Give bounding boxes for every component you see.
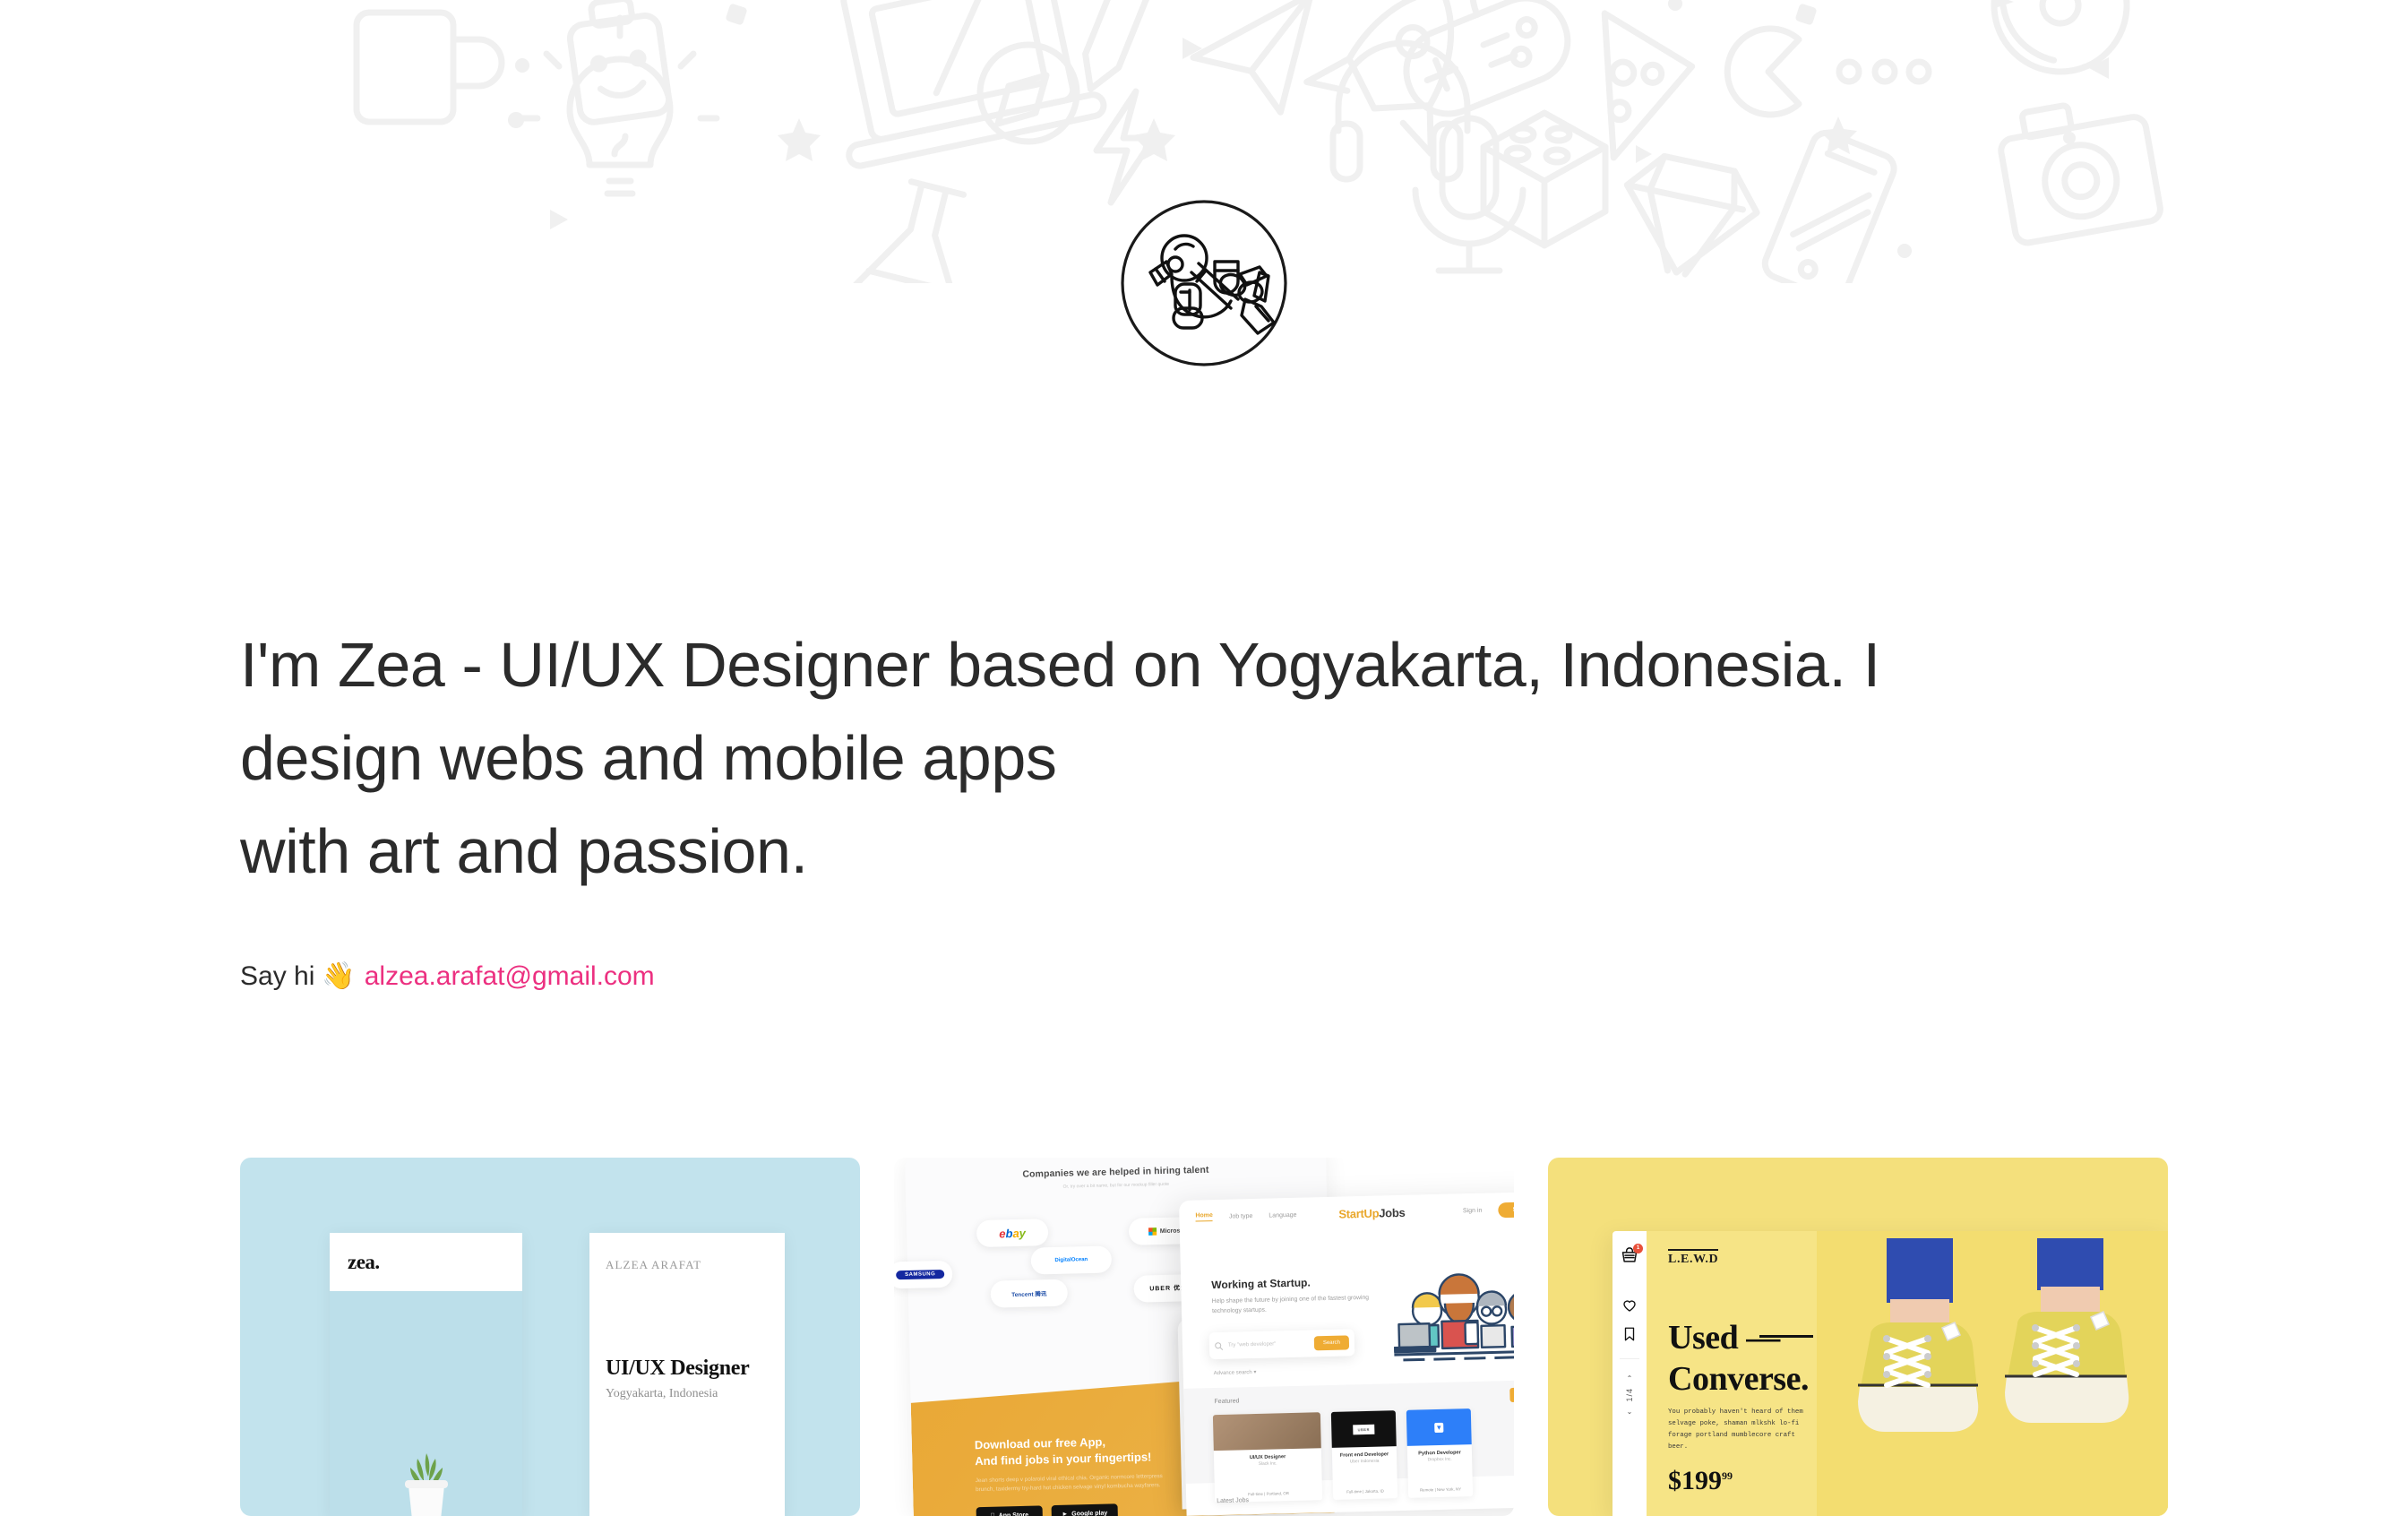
waving-hand-icon: 👋 — [322, 959, 355, 995]
business-card-role: UI/UX Designer — [606, 1357, 749, 1381]
pager-down-icon[interactable]: ⌄ — [1627, 1408, 1633, 1416]
diamond-icon — [1612, 150, 1765, 283]
product-description: You probably haven't heard of them selva… — [1668, 1407, 1811, 1453]
lego-brick-icon — [1483, 113, 1605, 245]
project-card-branding[interactable]: zea. ALZEA ARAFAT UI/UX Design — [240, 1158, 860, 1516]
job-card-title: Python Developer — [1407, 1450, 1472, 1457]
site-hero-title: Working at Startup. — [1211, 1276, 1311, 1291]
product-title: Used — Converse. — [1668, 1317, 1809, 1400]
business-card-front-top: zea. — [330, 1233, 522, 1291]
shop-sidebar-rail: 1 ⌃ 1/4 ⌄ — [1612, 1231, 1647, 1516]
smartphone-icon — [1760, 128, 1897, 283]
email-link[interactable]: alzea.arafat@gmail.com — [365, 959, 655, 995]
bookmark-icon[interactable] — [1622, 1326, 1637, 1347]
sign-in-link[interactable]: Sign in — [1463, 1207, 1483, 1214]
project-cards: zea. ALZEA ARAFAT UI/UX Design — [240, 1158, 2168, 1516]
heart-icon[interactable] — [1621, 1297, 1638, 1318]
app-store-button[interactable]:  App Store — [976, 1505, 1043, 1516]
nav-home[interactable]: Home — [1195, 1212, 1213, 1221]
google-play-button[interactable]: ► Google play — [1052, 1503, 1118, 1516]
site-brand: StartUpJobs — [1338, 1205, 1405, 1220]
page-title: I'm Zea - UI/UX Designer based on Yogyak… — [240, 618, 2121, 898]
job-card[interactable]: UI/UX Designer Slack Inc. Full-time | Po… — [1213, 1412, 1322, 1503]
people-illustration — [1392, 1265, 1514, 1369]
flask-icon — [842, 173, 993, 283]
rocket-icon — [1307, 0, 1505, 153]
featured-label: Featured — [1214, 1398, 1239, 1405]
laptop-icon — [815, 0, 1105, 168]
mug-icon — [357, 0, 502, 122]
sign-up-button[interactable]: Sign up — [1498, 1201, 1514, 1217]
business-card-front: zea. — [330, 1233, 522, 1516]
advance-search-toggle[interactable]: Advance search ▾ — [1214, 1369, 1257, 1376]
lightning-icon — [1096, 91, 1154, 202]
project-card-jobs[interactable]: Companies we are helped in hiring talent… — [894, 1158, 1514, 1516]
contact-prefix-label: Say hi — [240, 959, 314, 995]
logo-samsung: SAMSUNG — [894, 1261, 953, 1289]
lightbulb-icon — [521, 18, 717, 194]
pacman-icon — [1727, 29, 1929, 115]
search-icon — [1215, 1341, 1223, 1349]
job-card-thumbnail: UBER — [1331, 1410, 1397, 1448]
product-photo — [1817, 1231, 2168, 1516]
job-search-bar[interactable]: Try "web developer" Search — [1209, 1329, 1355, 1359]
gamepad-icon — [1370, 0, 1580, 126]
title-dash — [1759, 1335, 1813, 1338]
job-card-meta: Full-time | Jakarta, ID — [1333, 1488, 1397, 1494]
logo-digitalocean: DigitalOcean — [1030, 1245, 1112, 1274]
zea-wordmark: zea. — [348, 1251, 380, 1274]
logo-ebay: ebay — [976, 1219, 1049, 1247]
headphones-icon — [1333, 43, 1467, 179]
shop-pagination: ⌃ 1/4 ⌄ — [1625, 1374, 1634, 1416]
job-card-company: Dropbox Inc. — [1407, 1457, 1472, 1463]
job-card-title: Front end Developer — [1332, 1451, 1397, 1459]
search-placeholder: Try "web developer" — [1228, 1340, 1314, 1348]
plant-illustration — [391, 1446, 461, 1516]
latest-jobs-label: Latest Jobs — [1217, 1497, 1249, 1504]
app-promo-title: Download our free App, And find jobs in … — [975, 1433, 1152, 1469]
hero-section: I'm Zea - UI/UX Designer based on Yogyak… — [240, 618, 2121, 995]
business-card-back: ALZEA ARAFAT UI/UX Designer Yogyakarta, … — [589, 1233, 785, 1516]
pizza-icon — [1567, 13, 1699, 171]
job-card[interactable]: ▾ Python Developer Dropbox Inc. Remote |… — [1406, 1408, 1473, 1498]
compass-icon — [980, 45, 1077, 142]
cart-icon[interactable]: 1 — [1621, 1247, 1638, 1270]
nav-job-type[interactable]: Job type — [1229, 1212, 1253, 1219]
job-card-thumbnail — [1213, 1412, 1321, 1451]
nav-language[interactable]: Language — [1268, 1211, 1296, 1219]
job-card-meta: Full-time | Portland, OR — [1215, 1490, 1322, 1497]
rail-divider — [1620, 1358, 1639, 1359]
camera-icon — [1995, 92, 2163, 245]
astronaut-logo[interactable] — [1120, 199, 1288, 367]
job-card-company: Uber Indonesia — [1332, 1459, 1397, 1465]
microphone-icon — [1415, 118, 1523, 271]
pencil-icon — [1074, 0, 1163, 96]
decorative-stars — [508, 0, 2109, 258]
shop-product-panel: 1 ⌃ 1/4 ⌄ L.E. — [1612, 1231, 2168, 1516]
job-card-company: Slack Inc. — [1214, 1460, 1321, 1468]
site-hero-subtitle: Help shape the future by joining one of … — [1212, 1293, 1373, 1316]
contact-row: Say hi 👋 alzea.arafat@gmail.com — [240, 959, 2121, 995]
pager-up-icon[interactable]: ⌃ — [1627, 1374, 1633, 1382]
project-card-shop[interactable]: 1 ⌃ 1/4 ⌄ L.E. — [1548, 1158, 2168, 1516]
app-promo-body: Jean shorts deep v polaroid viral ethica… — [976, 1472, 1182, 1495]
job-card-thumbnail: ▾ — [1406, 1408, 1472, 1446]
pager-label: 1/4 — [1625, 1388, 1634, 1402]
cd-icon — [1977, 0, 2144, 89]
business-card-front-body — [330, 1291, 522, 1516]
search-button[interactable]: Search — [1314, 1335, 1349, 1350]
product-price: $19999 — [1668, 1466, 1733, 1496]
paperplane-icon — [1187, 0, 1327, 124]
logo-tencent: Tencent 腾讯 — [990, 1279, 1068, 1308]
job-card-meta: Remote | New York, NY — [1408, 1486, 1473, 1493]
lego-head-icon — [565, 0, 670, 124]
shop-brand-wordmark: L.E.W.D — [1668, 1249, 1718, 1267]
business-card-name: ALZEA ARAFAT — [606, 1258, 701, 1272]
business-card-location: Yogyakarta, Indonesia — [606, 1387, 718, 1401]
startupjobs-site: Home Job type Language StartUpJobs Sign … — [1179, 1191, 1514, 1515]
see-more-button[interactable]: See More — [1509, 1387, 1514, 1402]
job-card[interactable]: UBER Front end Developer Uber Indonesia … — [1331, 1410, 1397, 1500]
cart-count-badge: 1 — [1633, 1244, 1643, 1253]
